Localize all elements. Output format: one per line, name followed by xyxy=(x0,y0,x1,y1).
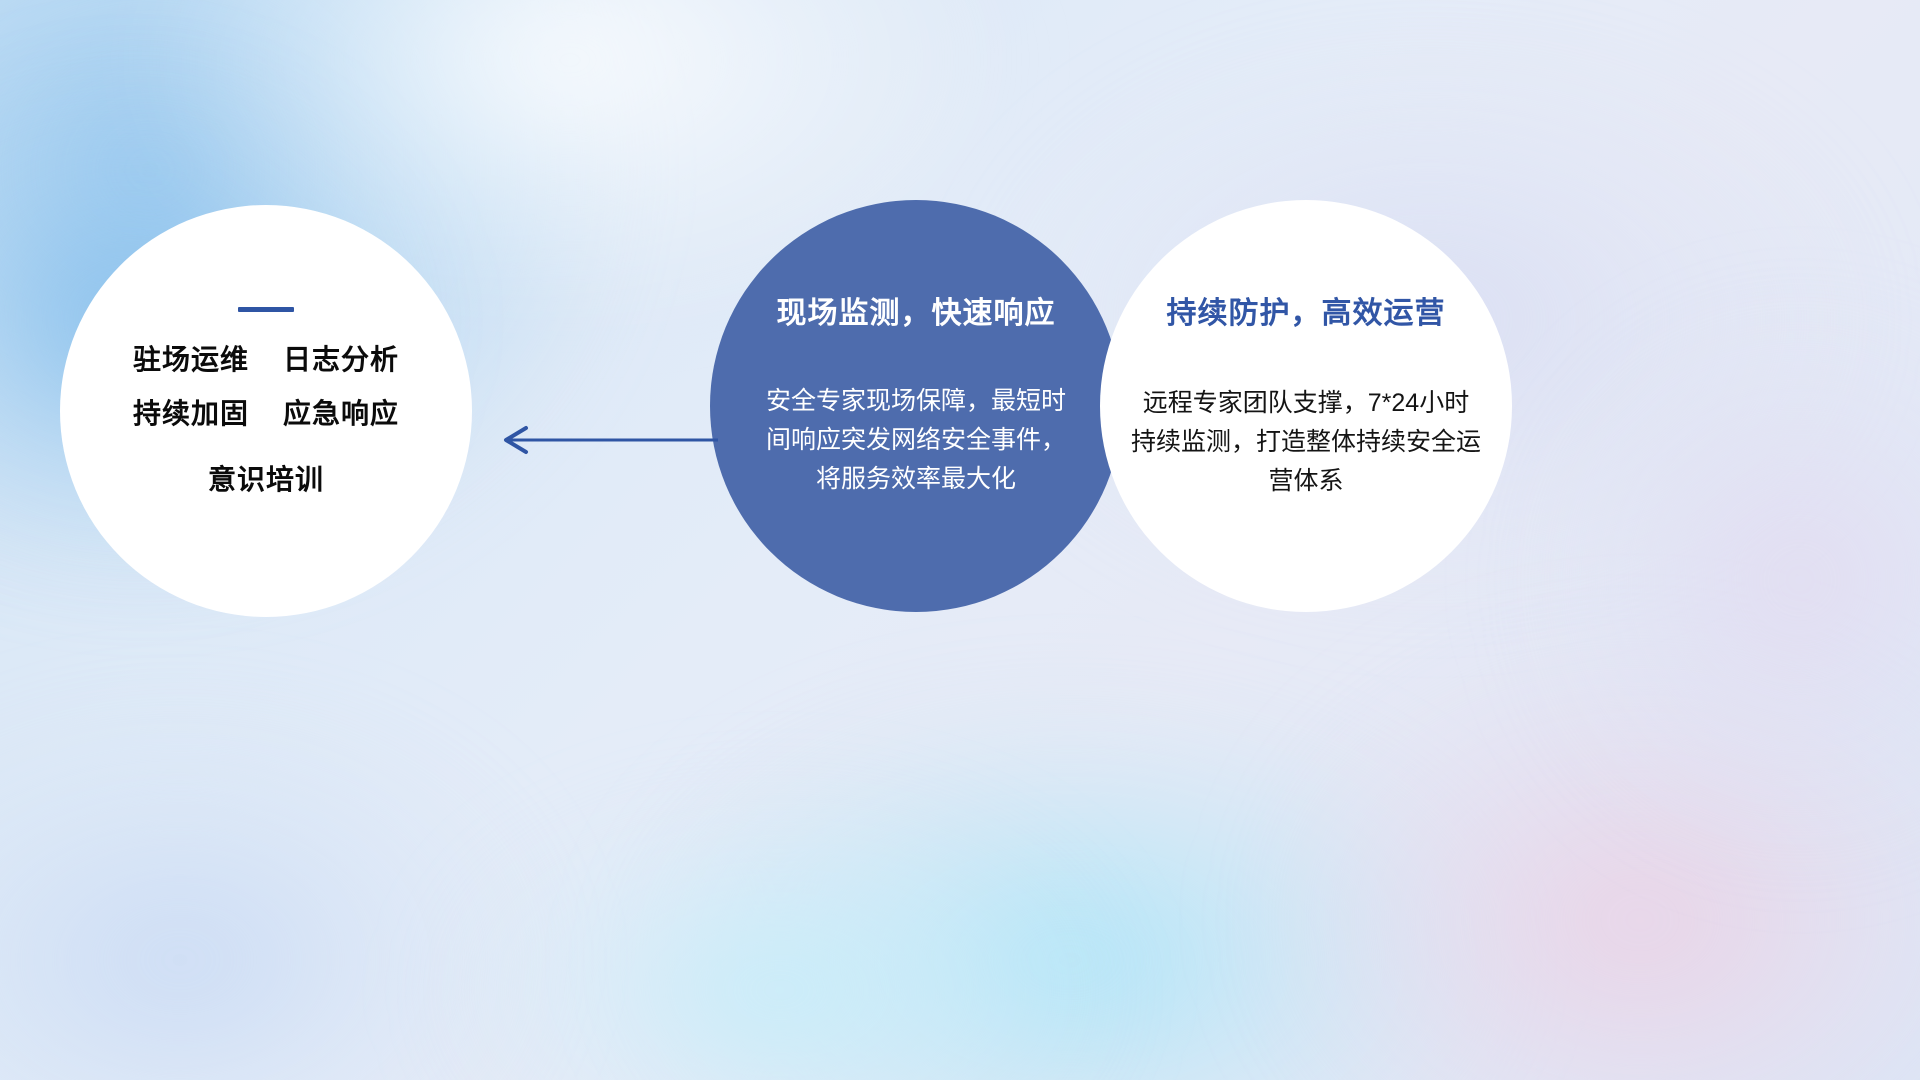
left-arrow-icon xyxy=(480,415,720,465)
background-glow-cyan xyxy=(620,700,1520,1080)
background-glow-pink xyxy=(1260,640,1920,1080)
blue-circle-title: 现场监测，快速响应 xyxy=(777,288,1056,332)
left-circle-content: 驻场运维 日志分析 持续加固 应急响应 意识培训 xyxy=(60,205,472,617)
tag-zhuchang-yunwei: 驻场运维 xyxy=(133,346,249,374)
tag-chixu-jiagu: 持续加固 xyxy=(133,400,249,428)
tag-row-3: 意识培训 xyxy=(208,466,324,494)
tag-yishi-peixun: 意识培训 xyxy=(208,466,324,494)
blue-circle-content: 现场监测，快速响应 安全专家现场保障，最短时间响应突发网络安全事件，将服务效率最… xyxy=(710,200,1122,612)
right-circle-title: 持续防护，高效运营 xyxy=(1167,288,1446,332)
accent-dash-icon xyxy=(238,307,294,312)
tag-row-2: 持续加固 应急响应 xyxy=(133,400,399,428)
tag-rizhi-fenxi: 日志分析 xyxy=(283,346,399,374)
right-circle-content: 持续防护，高效运营 远程专家团队支撑，7*24小时持续监测，打造整体持续安全运营… xyxy=(1100,200,1512,612)
slide-canvas: 驻场运维 日志分析 持续加固 应急响应 意识培训 现场监测，快速响应 安全专家现… xyxy=(0,0,1920,1080)
background-glow-cyan-2 xyxy=(430,790,1130,1080)
background-glow-bottom-left xyxy=(0,700,560,1080)
tag-yingji-xiangying: 应急响应 xyxy=(283,400,399,428)
right-circle-body: 远程专家团队支撑，7*24小时持续监测，打造整体持续安全运营体系 xyxy=(1131,384,1481,500)
background-glow-pink-2 xyxy=(1520,300,1920,860)
tag-row-1: 驻场运维 日志分析 xyxy=(133,346,399,374)
blue-circle-body: 安全专家现场保障，最短时间响应突发网络安全事件，将服务效率最大化 xyxy=(766,382,1066,498)
